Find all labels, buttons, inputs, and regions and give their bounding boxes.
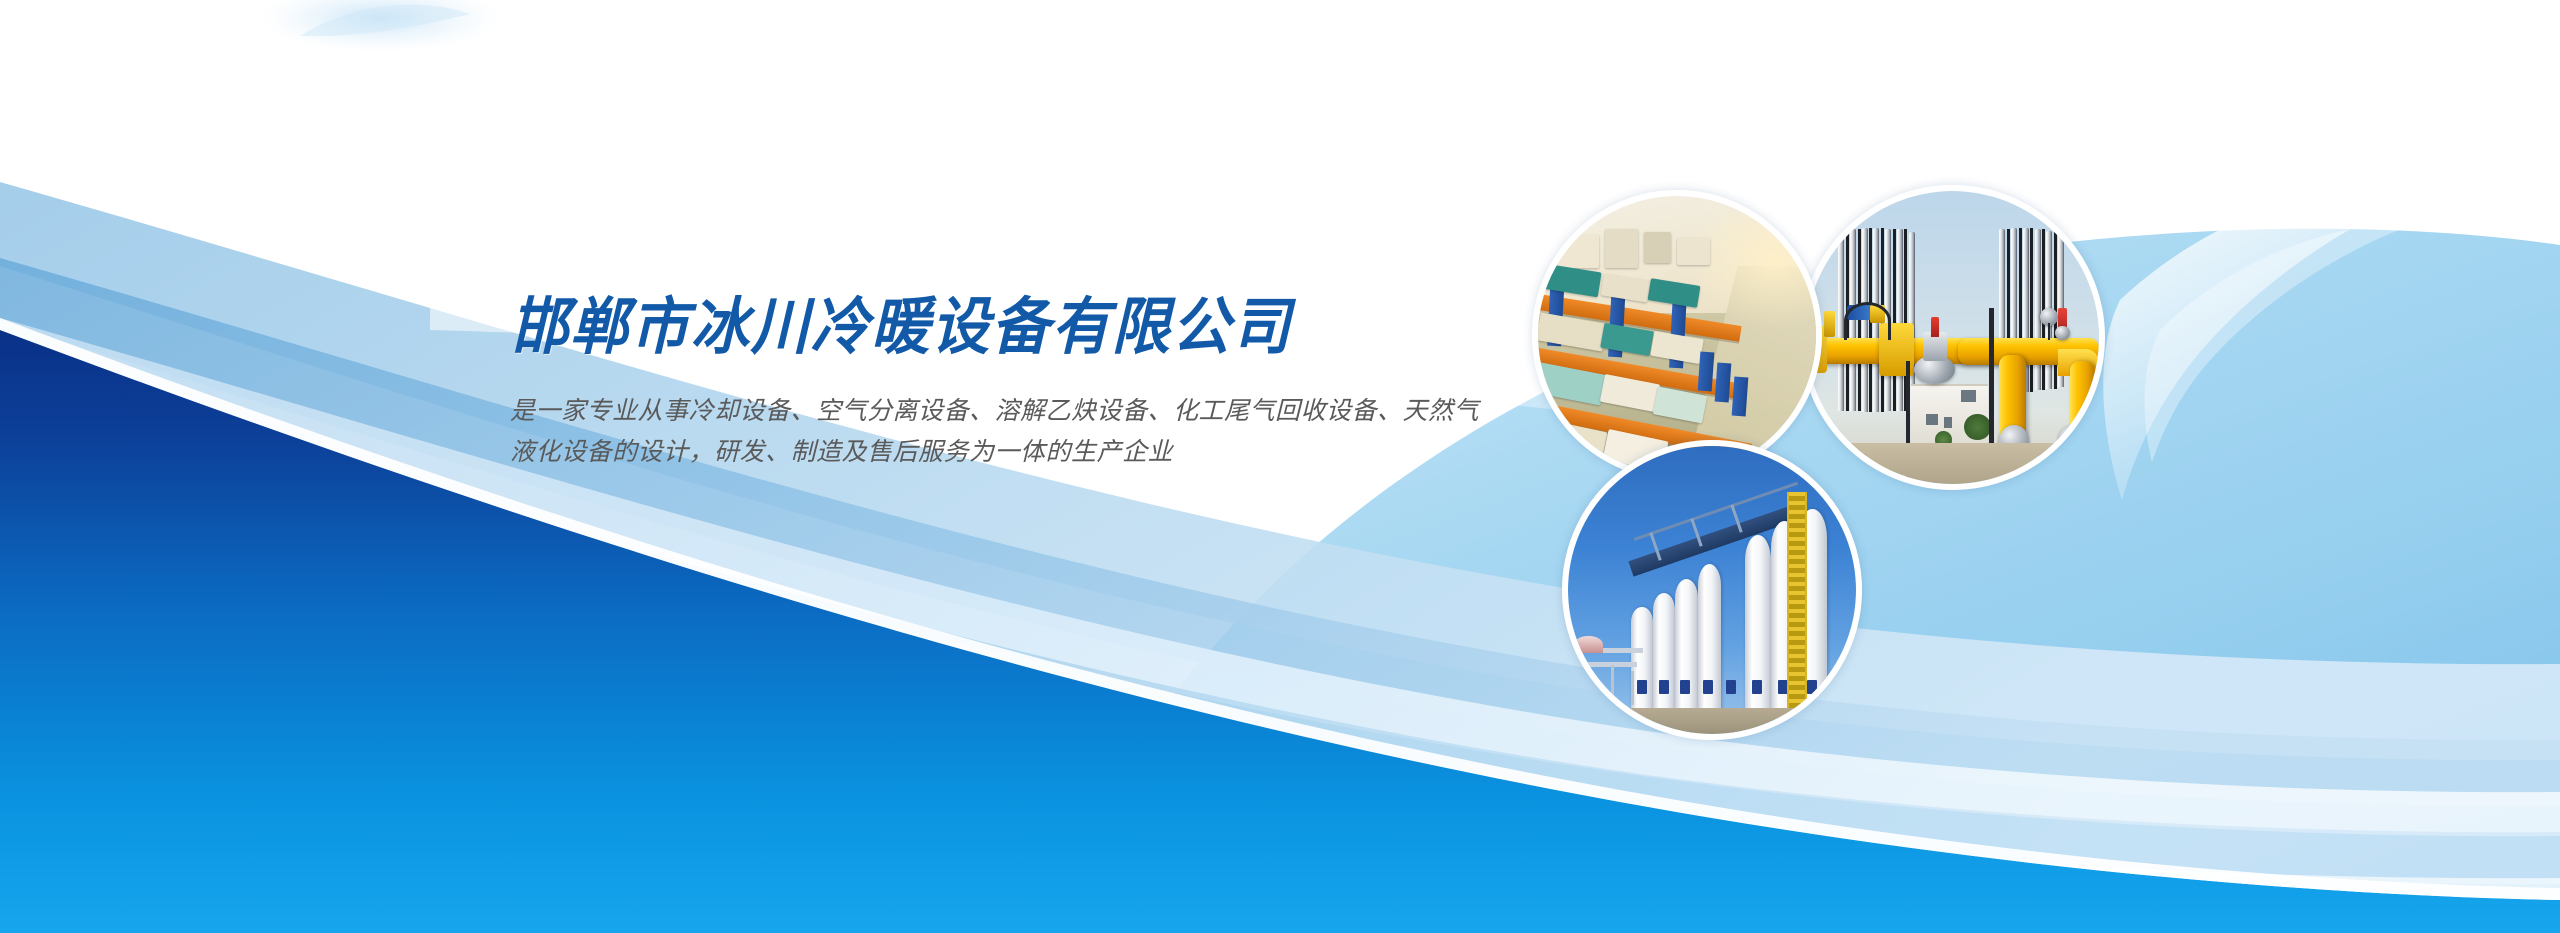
company-description-line-1: 是一家专业从事冷却设备、空气分离设备、溶解乙炔设备、化工尾气回收设备、天然气 <box>510 391 1510 432</box>
company-title: 邯郸市冰川冷暖设备有限公司 <box>510 296 1497 361</box>
photo-circle-cryogenic-tanks <box>1562 440 1862 740</box>
company-description: 是一家专业从事冷却设备、空气分离设备、溶解乙炔设备、化工尾气回收设备、天然气 液… <box>510 391 1510 474</box>
company-banner: 邯郸市冰川冷暖设备有限公司 是一家专业从事冷却设备、空气分离设备、溶解乙炔设备、… <box>0 0 2560 933</box>
company-description-line-2: 液化设备的设计，研发、制造及售后服务为一体的生产企业 <box>510 432 1510 473</box>
banner-text-block: 邯郸市冰川冷暖设备有限公司 是一家专业从事冷却设备、空气分离设备、溶解乙炔设备、… <box>510 296 1560 474</box>
photo-circle-warehouse <box>1532 190 1822 480</box>
photo-circle-gas-pipeline <box>1800 185 2105 490</box>
